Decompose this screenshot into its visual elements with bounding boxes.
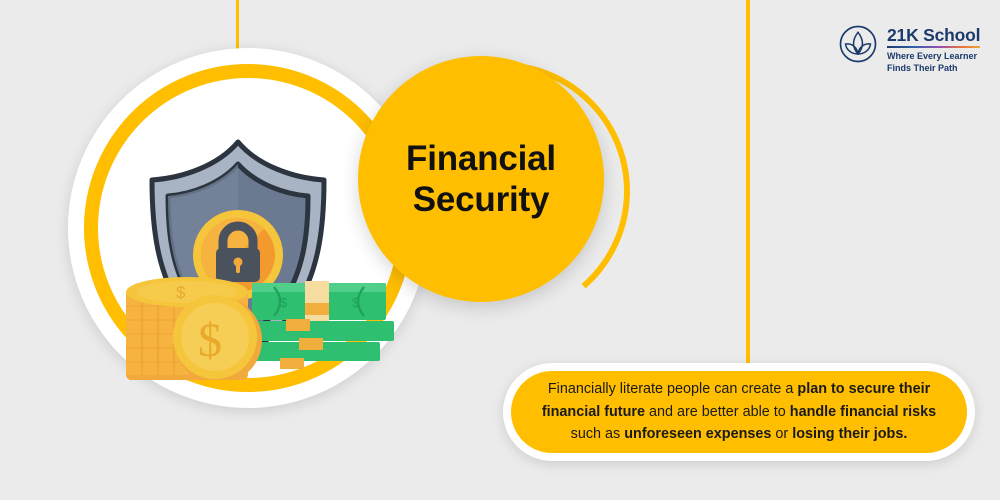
svg-text:$: $	[176, 283, 186, 302]
brand-tagline-line1: Where Every Learner	[887, 51, 980, 63]
coin-stack-icon: $ $	[126, 277, 262, 380]
page-title-line2: Security	[406, 179, 556, 220]
brand-tagline: Where Every Learner Finds Their Path	[887, 51, 980, 75]
callout-text: Financially literate people can create a…	[511, 378, 967, 446]
brand-logo-wordmark: 21K School Where Every Learner Finds The…	[887, 24, 980, 75]
shield-lock-money-illustration: $ $	[100, 120, 400, 380]
lotus-circle-logo-icon	[838, 24, 878, 64]
brand-gradient-underline	[887, 46, 980, 49]
brand-tagline-line2: Finds Their Path	[887, 63, 980, 75]
page-title: Financial Security	[406, 138, 556, 221]
svg-text:$: $	[198, 314, 222, 367]
brand-logo[interactable]: 21K School Where Every Learner Finds The…	[838, 24, 980, 75]
title-circle: Financial Security	[358, 56, 604, 302]
connector-line-right	[746, 0, 750, 378]
svg-text:$: $	[280, 295, 288, 310]
banknotes-icon: $ $	[252, 281, 394, 369]
page-title-line1: Financial	[406, 138, 556, 179]
brand-name: 21K School	[887, 26, 980, 44]
infographic-canvas: $ $	[0, 0, 1000, 500]
callout-pill: Financially literate people can create a…	[511, 371, 967, 453]
svg-text:$: $	[352, 295, 360, 310]
